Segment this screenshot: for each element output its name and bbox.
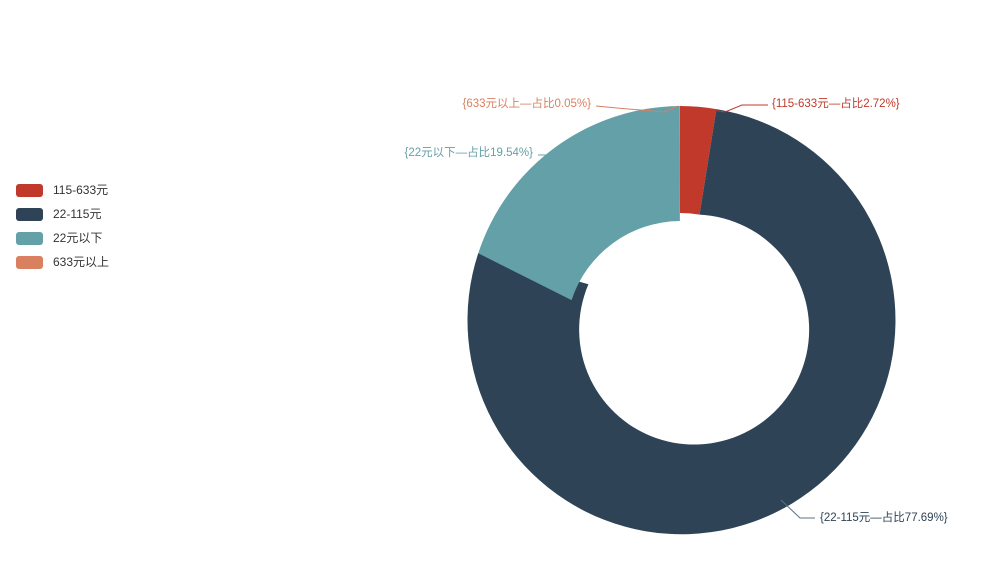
donut-chart-container: 115-633元 22-115元 22元以下 633元以上: [0, 0, 984, 587]
data-label-over-633: {633元以上—占比0.05%}: [463, 96, 592, 110]
donut-chart-svg: {633元以上—占比0.05%} {115-633元—占比2.72%} {22元…: [0, 0, 984, 587]
data-label-115-633: {115-633元—占比2.72%}: [772, 96, 900, 110]
data-label-22-115: {22-115元—占比77.69%}: [820, 510, 948, 524]
data-label-under-22: {22元以下—占比19.54%}: [405, 145, 534, 159]
